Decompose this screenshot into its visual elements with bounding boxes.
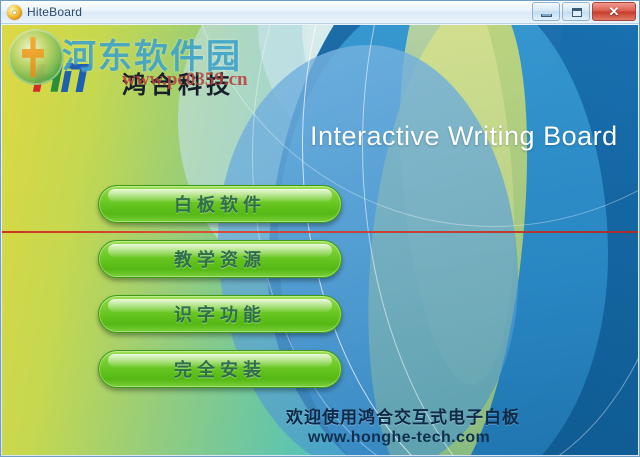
literacy-function-button[interactable]: 识字功能 xyxy=(98,295,342,333)
watermark-badge-icon xyxy=(8,29,64,85)
button-label: 白板软件 xyxy=(174,191,266,217)
watermark: 河东软件园 www.pc0359.cn xyxy=(2,25,332,110)
footer-welcome-text: 欢迎使用鸿合交互式电子白板 xyxy=(286,403,520,428)
page-title: Interactive Writing Board xyxy=(310,121,618,152)
window-controls: ✕ xyxy=(532,2,636,22)
minimize-icon xyxy=(541,14,552,17)
maximize-button[interactable] xyxy=(562,2,590,21)
window-title: HiteBoard xyxy=(27,3,82,22)
hiteboard-window: HiteBoard ✕ xyxy=(0,0,640,457)
button-label: 识字功能 xyxy=(174,301,266,327)
title-bar: HiteBoard ✕ xyxy=(1,1,639,24)
footer-website-link[interactable]: www.honghe-tech.com xyxy=(308,429,490,447)
disc-icon xyxy=(7,5,22,20)
watermark-site-url: www.pc0359.cn xyxy=(122,69,248,91)
full-install-button[interactable]: 完全安装 xyxy=(98,350,342,388)
whiteboard-software-button[interactable]: 白板软件 xyxy=(98,185,342,223)
close-button[interactable]: ✕ xyxy=(592,2,636,21)
guide-line xyxy=(2,231,638,233)
close-icon: ✕ xyxy=(593,3,635,20)
button-label: 完全安装 xyxy=(174,356,266,382)
maximize-icon xyxy=(572,8,582,17)
minimize-button[interactable] xyxy=(532,2,560,21)
button-label: 教学资源 xyxy=(174,246,266,272)
teaching-resources-button[interactable]: 教学资源 xyxy=(98,240,342,278)
splash-canvas: HiT 鸿合科技 河东软件园 www.pc0359.cn Interactive… xyxy=(2,25,638,455)
